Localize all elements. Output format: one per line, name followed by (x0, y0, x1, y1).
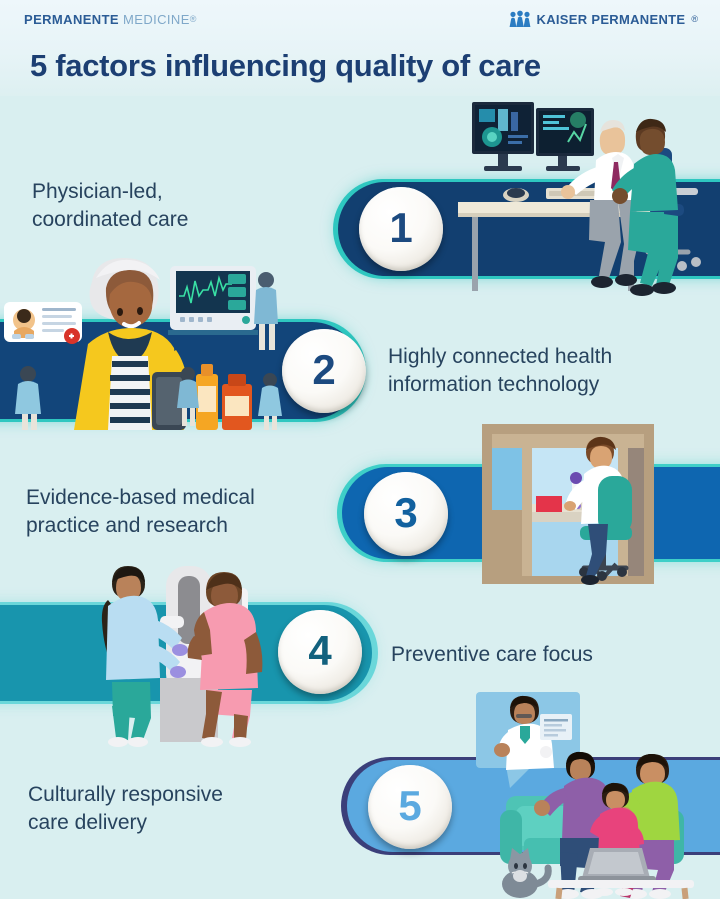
factor-number-badge-3: 3 (364, 472, 448, 556)
kaiser-permanente-logo: KAISER PERMANENTE® (509, 11, 698, 27)
permanente-medicine-logo: PERMANENTE MEDICINE® (24, 12, 197, 27)
factor-number-badge-2: 2 (282, 329, 366, 413)
thrive-people-icon (509, 11, 531, 27)
factor-number-badge-1: 1 (359, 187, 443, 271)
factor-number-5: 5 (398, 785, 421, 827)
kaiser-registered-mark: ® (691, 14, 698, 24)
factor-label-5: Culturally responsive care delivery (28, 781, 223, 836)
factor-number-1: 1 (389, 207, 412, 249)
factor-number-4: 4 (308, 630, 331, 672)
header: PERMANENTE MEDICINE® KAISER PERMANENTE® … (0, 0, 720, 96)
factor-number-3: 3 (394, 492, 417, 534)
factor-number-badge-4: 4 (278, 610, 362, 694)
page-title: 5 factors influencing quality of care (30, 48, 541, 84)
patient-with-smartphone-health-records-illustration (0, 258, 300, 430)
factor-label-1: Physician-led, coordinated care (32, 178, 188, 233)
factor-label-4: Preventive care focus (391, 641, 593, 669)
permanente-wordmark-light: MEDICINE (123, 12, 190, 27)
factor-label-3: Evidence-based medical practice and rese… (26, 484, 255, 539)
factor-label-2: Highly connected health information tech… (388, 343, 612, 398)
permanente-wordmark-bold: PERMANENTE (24, 12, 119, 27)
kaiser-permanente-wordmark: KAISER PERMANENTE (537, 12, 686, 27)
permanente-registered-mark: ® (190, 14, 197, 24)
researcher-at-lab-bench-illustration (478, 418, 658, 590)
physicians-reviewing-monitors-illustration (450, 96, 710, 306)
factor-number-badge-5: 5 (368, 765, 452, 849)
family-telehealth-video-visit-illustration (440, 688, 720, 899)
factor-number-2: 2 (312, 349, 335, 391)
infographic-canvas: 1 2 3 4 5 Physician-led, coordinated car… (0, 0, 720, 899)
